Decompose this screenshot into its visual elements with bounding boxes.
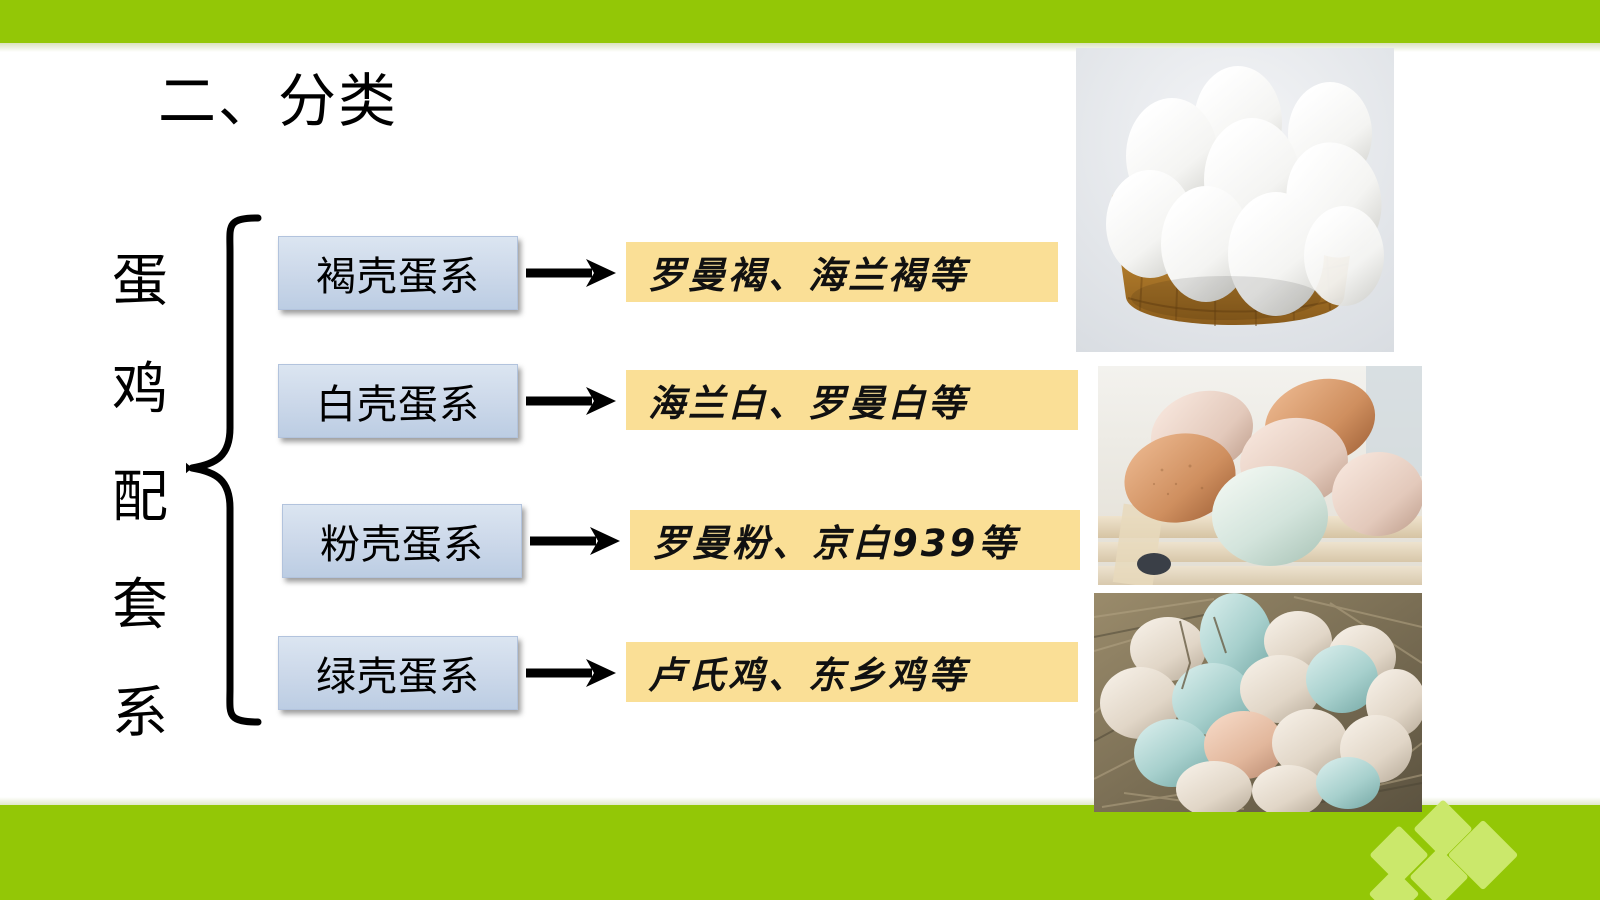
vertical-label-char: 鸡 bbox=[102, 336, 178, 444]
value-box-green-shell[interactable]: 卢氏鸡、东乡鸡等 bbox=[626, 642, 1078, 702]
vertical-label-char: 套 bbox=[102, 552, 178, 660]
photo-white-eggs-basket bbox=[1076, 48, 1394, 352]
diamond-decoration bbox=[1360, 800, 1600, 900]
vertical-group-label: 蛋 鸡 配 套 系 bbox=[102, 228, 178, 768]
category-box-pink-shell[interactable]: 粉壳蛋系 bbox=[282, 504, 522, 578]
curly-brace bbox=[186, 212, 278, 730]
value-box-pink-shell[interactable]: 罗曼粉、京白939等 bbox=[630, 510, 1080, 570]
photo-brown-eggs-tray bbox=[1098, 366, 1422, 585]
category-box-green-shell[interactable]: 绿壳蛋系 bbox=[278, 636, 518, 710]
value-box-white-shell[interactable]: 海兰白、罗曼白等 bbox=[626, 370, 1078, 430]
vertical-label-char: 配 bbox=[102, 444, 178, 552]
slide-canvas: 二、分类 蛋 鸡 配 套 系 褐壳蛋系 罗曼褐、海兰褐等 白壳蛋系 bbox=[0, 0, 1600, 900]
value-box-brown-shell[interactable]: 罗曼褐、海兰褐等 bbox=[626, 242, 1058, 302]
vertical-label-char: 蛋 bbox=[102, 228, 178, 336]
category-box-brown-shell[interactable]: 褐壳蛋系 bbox=[278, 236, 518, 310]
category-box-white-shell[interactable]: 白壳蛋系 bbox=[278, 364, 518, 438]
right-arrow-icon bbox=[524, 384, 616, 418]
right-arrow-icon bbox=[528, 524, 620, 558]
right-arrow-icon bbox=[524, 656, 616, 690]
vertical-label-char: 系 bbox=[102, 660, 178, 768]
top-green-band bbox=[0, 0, 1600, 43]
photo-green-eggs-nest bbox=[1094, 593, 1422, 812]
right-arrow-icon bbox=[524, 256, 616, 290]
page-title: 二、分类 bbox=[158, 72, 398, 130]
